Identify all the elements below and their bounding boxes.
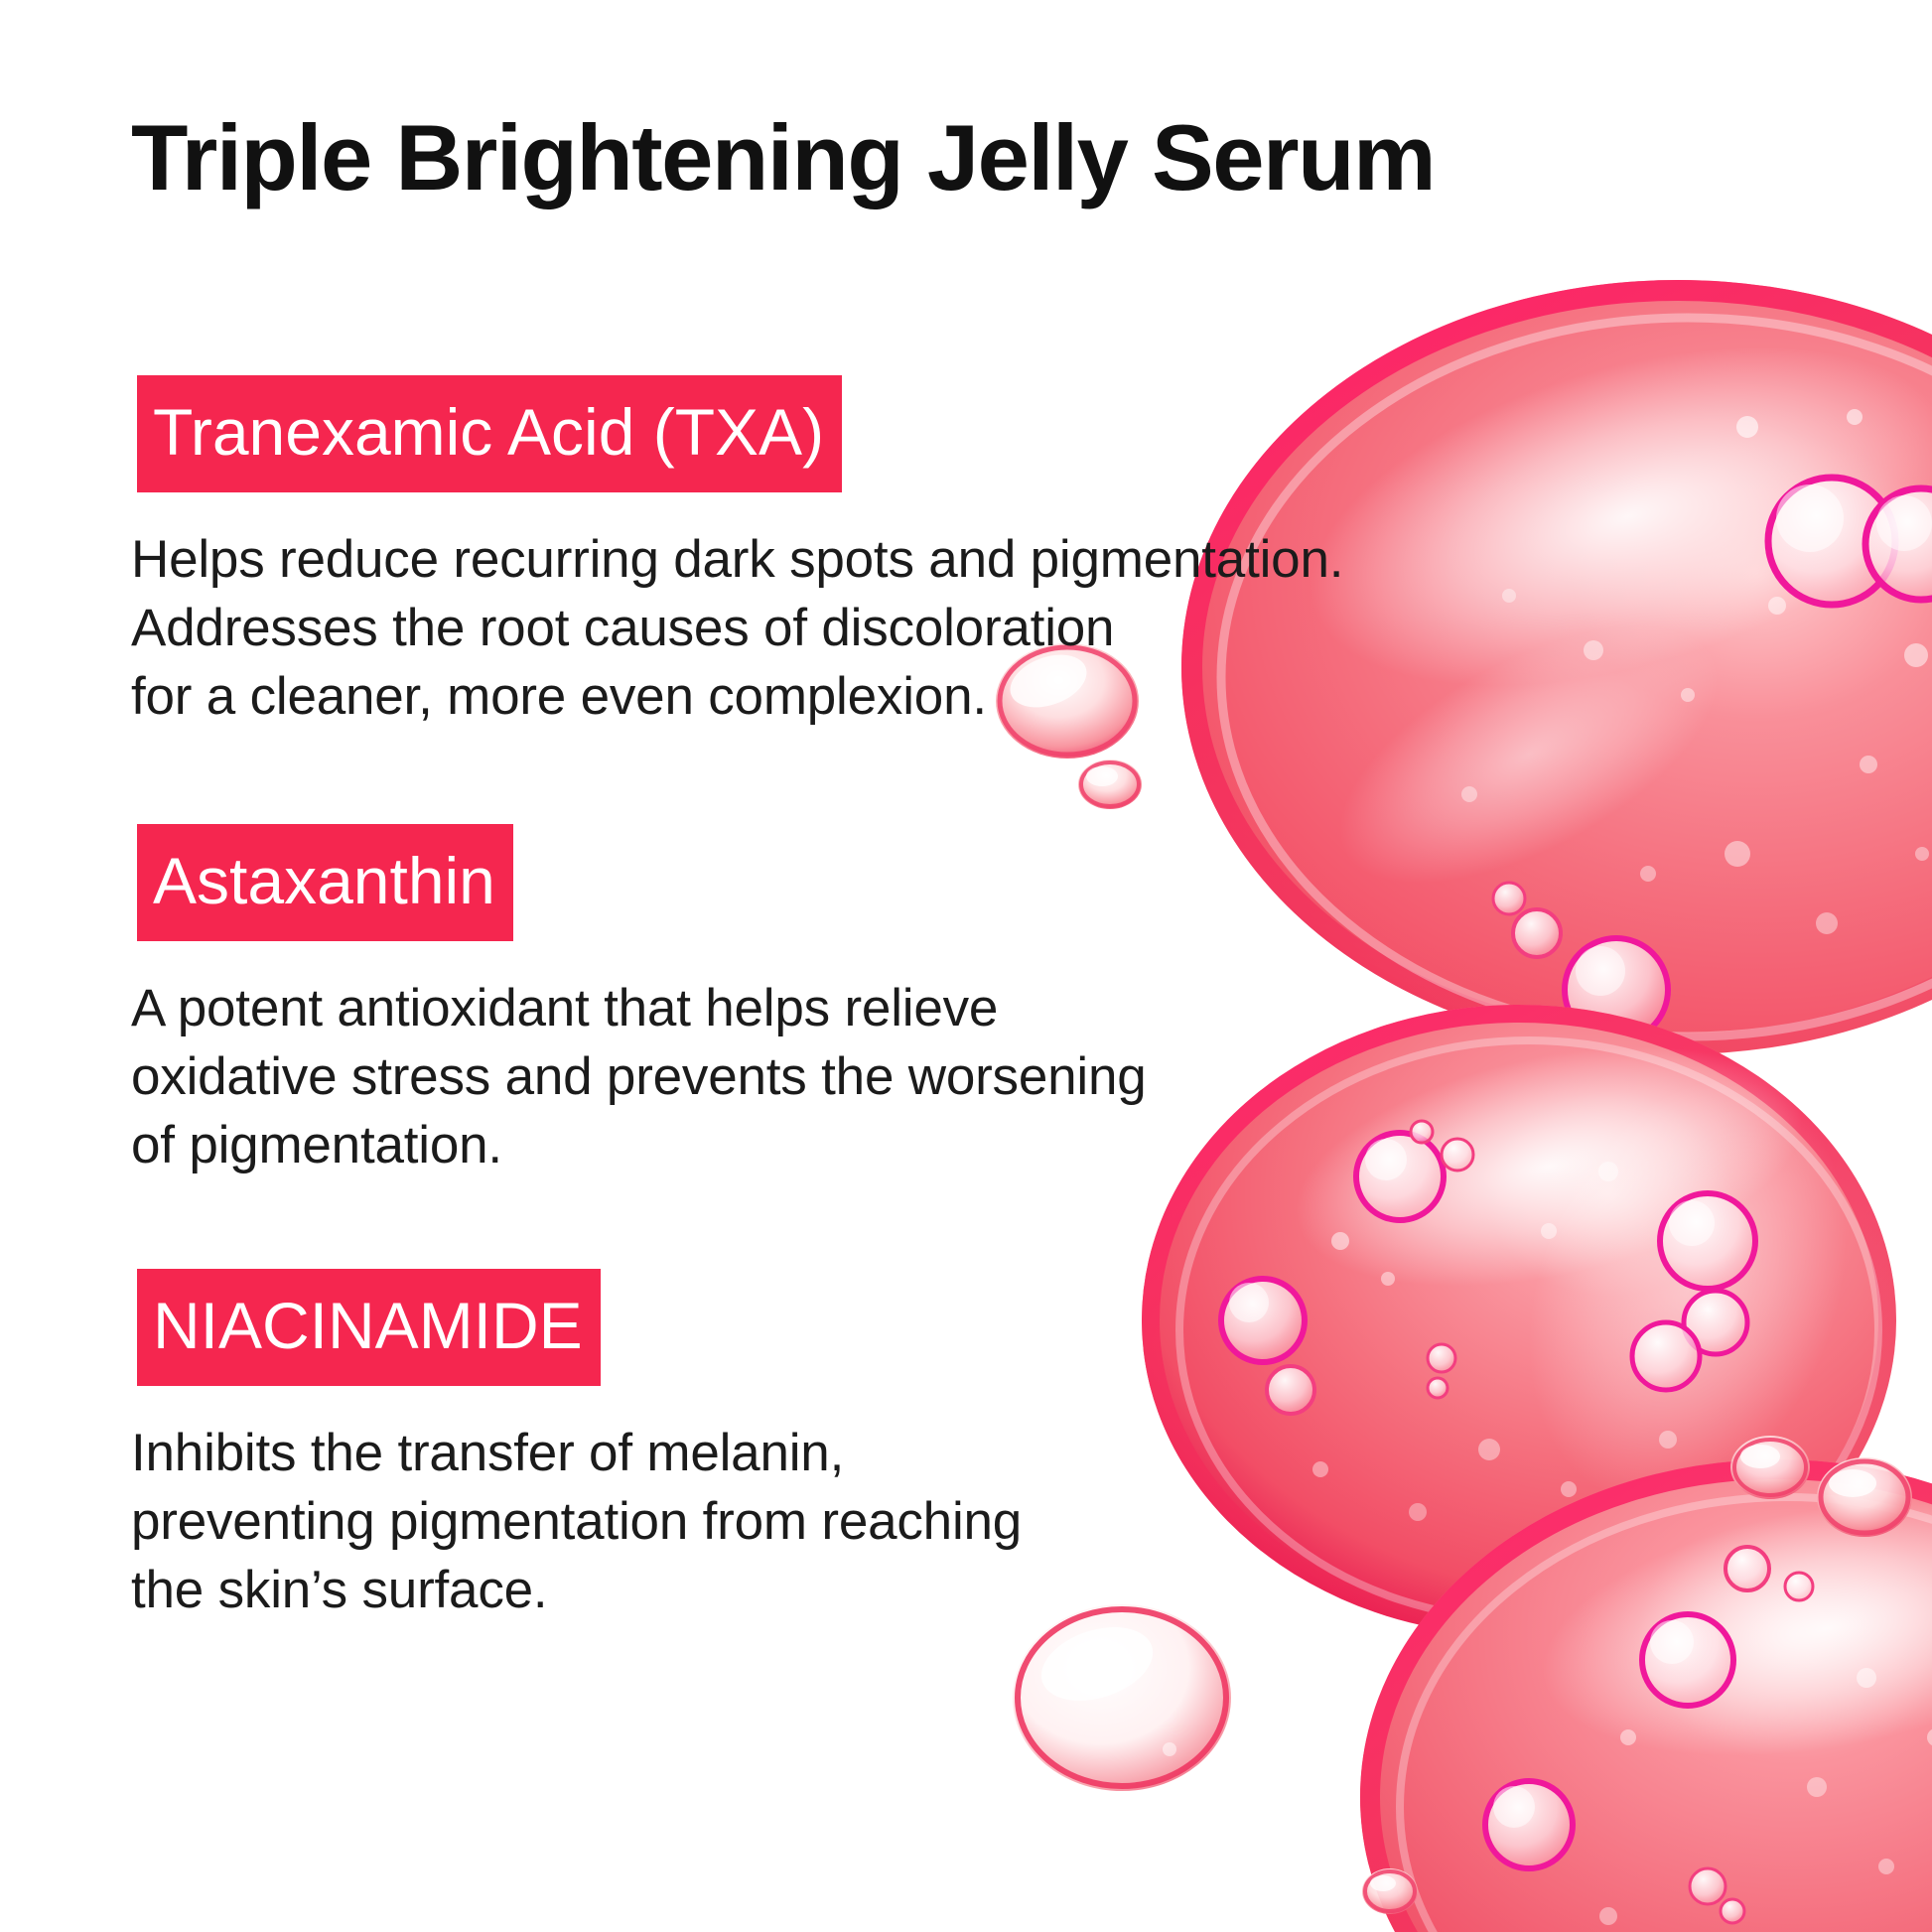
description-line: preventing pigmentation from reaching [131, 1488, 1022, 1557]
ingredient-description-tranexamic-acid: Helps reduce recurring dark spots and pi… [131, 526, 1343, 732]
description-line: Inhibits the transfer of melanin, [131, 1420, 1022, 1488]
ingredient-badge-astaxanthin: Astaxanthin [137, 824, 513, 941]
ingredient-description-astaxanthin: A potent antioxidant that helps relieve … [131, 975, 1147, 1180]
description-line: oxidative stress and prevents the worsen… [131, 1043, 1147, 1112]
description-line: for a cleaner, more even complexion. [131, 663, 1343, 732]
page-title: Triple Brightening Jelly Serum [131, 107, 1435, 208]
ingredient-section-niacinamide: NIACINAMIDE Inhibits the transfer of mel… [137, 1269, 1022, 1625]
description-line: of pigmentation. [131, 1112, 1147, 1180]
description-line: Addresses the root causes of discolorati… [131, 595, 1343, 663]
description-line: Helps reduce recurring dark spots and pi… [131, 526, 1343, 595]
ingredient-badge-niacinamide: NIACINAMIDE [137, 1269, 601, 1386]
content-layer: Triple Brightening Jelly Serum Tranexami… [0, 0, 1932, 1932]
ingredient-section-astaxanthin: Astaxanthin A potent antioxidant that he… [137, 824, 1147, 1180]
description-line: the skin’s surface. [131, 1557, 1022, 1625]
description-line: A potent antioxidant that helps relieve [131, 975, 1147, 1043]
ingredient-section-tranexamic-acid: Tranexamic Acid (TXA) Helps reduce recur… [137, 375, 1343, 732]
ingredient-description-niacinamide: Inhibits the transfer of melanin, preven… [131, 1420, 1022, 1625]
ingredient-badge-tranexamic-acid: Tranexamic Acid (TXA) [137, 375, 842, 492]
